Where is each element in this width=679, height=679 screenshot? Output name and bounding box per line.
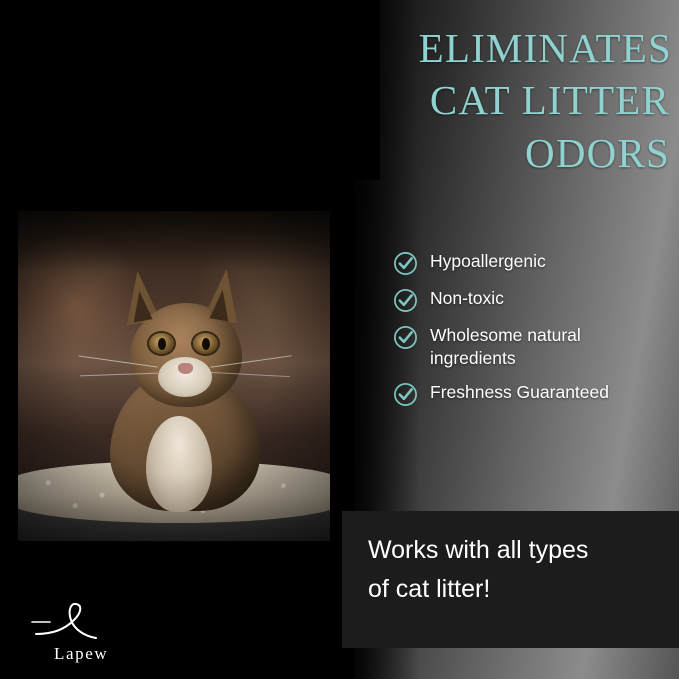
caption-line-1: Works with all types (368, 531, 660, 570)
headline-line-1: ELIMINATES (300, 22, 672, 74)
check-circle-icon (393, 382, 418, 407)
brand-name: Lapew (54, 644, 108, 664)
benefit-label: Freshness Guaranteed (430, 381, 609, 404)
benefit-label: Hypoallergenic (430, 250, 546, 273)
page-title: ELIMINATES CAT LITTER ODORS (300, 22, 672, 179)
check-circle-icon (393, 251, 418, 276)
list-item: Freshness Guaranteed (393, 381, 669, 407)
benefit-label: Non-toxic (430, 287, 504, 310)
headline-line-3: ODORS (300, 127, 672, 179)
headline-line-2: CAT LITTER (300, 74, 672, 126)
brand-logo: Lapew (30, 600, 160, 662)
photo-vignette (18, 211, 330, 541)
list-item: Wholesome natural ingredients (393, 324, 669, 370)
check-circle-icon (393, 288, 418, 313)
benefit-label: Wholesome natural ingredients (430, 324, 669, 370)
list-item: Hypoallergenic (393, 250, 669, 276)
script-l-logo-icon (30, 600, 140, 646)
kitten-in-litter-box-photo (18, 211, 330, 541)
check-circle-icon (393, 325, 418, 350)
list-item: Non-toxic (393, 287, 669, 313)
caption-line-2: of cat litter! (368, 570, 660, 609)
caption-text: Works with all types of cat litter! (368, 531, 660, 609)
benefits-list: Hypoallergenic Non-toxic Wholesome natur… (393, 250, 669, 418)
advertisement-canvas: ELIMINATES CAT LITTER ODORS (0, 0, 679, 679)
